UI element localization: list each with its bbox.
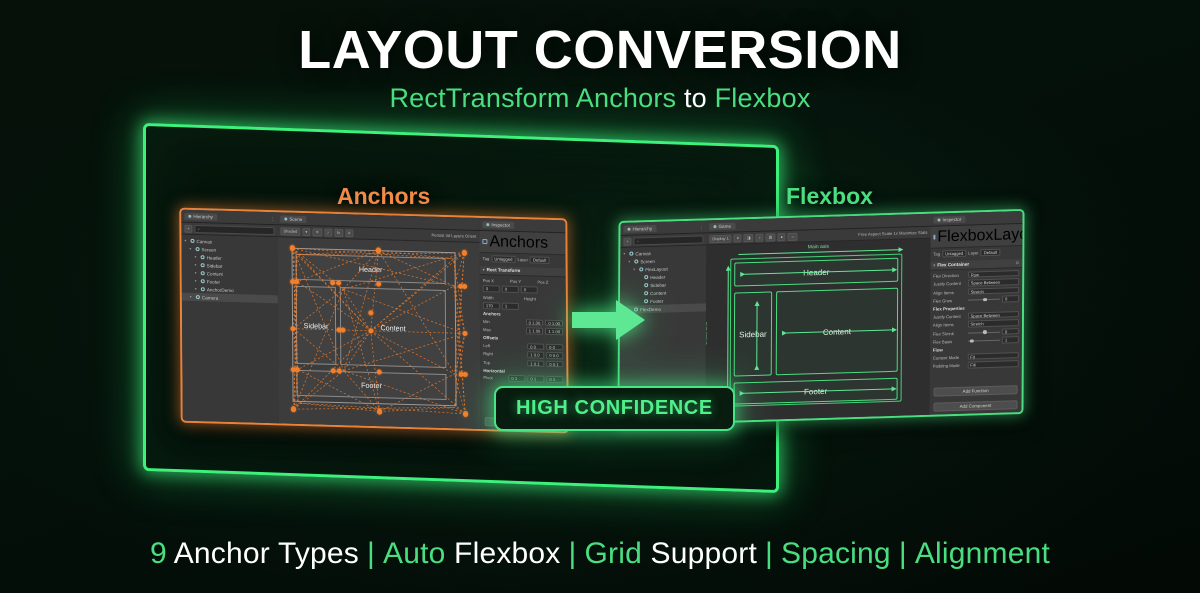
layer-value[interactable]: Default — [530, 257, 549, 264]
feature-text: Anchor Types — [167, 537, 359, 570]
hierarchy-item-label: Canvas — [196, 239, 212, 244]
toolbar-record-icon[interactable]: ● — [777, 233, 785, 241]
toolbar-dropdown-icon[interactable]: ▾ — [734, 234, 742, 242]
object-name-field[interactable]: FlexboxLayout — [937, 225, 1024, 246]
anchor-guide-lines — [277, 237, 480, 429]
tag-value[interactable]: Untagged — [491, 256, 515, 263]
hierarchy-item-label: Header — [207, 255, 222, 260]
disclosure-triangle-icon[interactable]: ▾ — [623, 252, 627, 256]
status-badge: HIGH CONFIDENCE — [494, 386, 735, 431]
expand-chevron-icon[interactable]: ▾ — [933, 263, 935, 268]
gameobject-icon — [201, 287, 205, 291]
tab-inspector[interactable]: Inspector — [933, 215, 965, 223]
hierarchy-item-label: AnchorDemo — [207, 287, 234, 293]
object-name-field[interactable]: Anchors — [489, 233, 562, 253]
feature-item: Spacing — [781, 537, 891, 570]
layer-value[interactable]: Default — [981, 249, 1000, 256]
feature-item: Grid Support — [585, 537, 758, 570]
layer-label: Layer — [968, 250, 979, 255]
toolbar-mute-icon[interactable]: ♪ — [756, 233, 764, 241]
tab-label: Hierarchy — [632, 226, 652, 232]
subtitle-connector: to — [676, 83, 714, 113]
row-y[interactable]: 0 0.1 — [546, 361, 563, 368]
property-label: Justify Content — [933, 313, 966, 319]
gameobject-icon — [644, 283, 648, 287]
toolbar-audio-icon[interactable]: ♪ — [324, 228, 332, 236]
hierarchy-menu-icon[interactable]: ⋮ — [699, 224, 703, 229]
tab-inspector[interactable]: Inspector — [482, 221, 514, 229]
inspector-cell: Height — [524, 296, 563, 302]
add-object-button[interactable]: + — [623, 237, 631, 245]
inspector-cell: Width — [483, 295, 522, 301]
tab-label: Inspector — [491, 222, 510, 228]
offset-value-row[interactable]: Top1 0.10 0.1 — [483, 359, 563, 368]
tab-hierarchy[interactable]: Hierarchy — [623, 224, 656, 232]
tab-game[interactable]: Game — [709, 222, 735, 230]
anchors-scene-panel[interactable]: Scene Shaded ▾ ☀ ♪ fx # Persist 3d Layer… — [277, 212, 480, 429]
add-function-button[interactable]: Add Function — [934, 385, 1018, 396]
flex-box-label: Sidebar — [739, 329, 767, 339]
hierarchy-item-label: Content — [650, 290, 666, 295]
property-dropdown[interactable]: Space Between — [967, 311, 1019, 319]
toolbar-scale-icon[interactable]: ⇔ — [788, 232, 798, 240]
hierarchy-item-label: Screen — [202, 247, 217, 252]
property-label: Justify Content — [933, 281, 966, 287]
property-label: Flex Direction — [933, 272, 966, 278]
row-x[interactable]: 1 1.00 — [526, 327, 544, 334]
hierarchy-item-label: Canvas — [635, 251, 651, 256]
row-value[interactable]: 0 1 — [527, 376, 544, 383]
add-object-button[interactable]: + — [184, 224, 192, 232]
flexbox-game-panel[interactable]: Game Display 1 ▾ ◨ ♪ ▥ ● ⇔ Free Aspect S… — [705, 214, 930, 422]
row-value[interactable]: 0 1 — [508, 375, 525, 382]
main-axis-label: Main axis — [808, 244, 829, 251]
gameobject-icon — [201, 263, 205, 267]
gameobject-icon — [201, 279, 205, 283]
feature-separator: | — [569, 537, 577, 570]
hierarchy-item-label: Sidebar — [650, 282, 666, 287]
hierarchy-search-input[interactable]: ⌕ — [634, 235, 704, 245]
search-icon: ⌕ — [637, 239, 639, 243]
inspector-cell: 1 — [502, 303, 519, 310]
hierarchy-item-label: Screen — [640, 258, 655, 263]
disclosure-triangle-icon[interactable]: ▾ — [633, 267, 637, 271]
inspector-row: 1701 — [483, 302, 563, 311]
anchors-hierarchy-list[interactable]: ▾Canvas▾Screen▾Header▾Sidebar▾Content▾Fo… — [181, 235, 278, 424]
flex-box-label: Header — [803, 267, 829, 277]
pivot-row[interactable]: Pivot0 10 10 1 — [483, 374, 563, 383]
inspector-cell: 0 — [502, 286, 519, 293]
hierarchy-item-label: Header — [650, 274, 665, 279]
tag-label: Tag — [933, 251, 940, 256]
row-key: Min — [483, 319, 524, 325]
inspector-object-header[interactable]: Anchors — [479, 231, 565, 255]
property-dropdown[interactable]: Fit — [967, 352, 1019, 360]
inspector-icon — [937, 218, 940, 221]
tab-hierarchy[interactable]: Hierarchy — [184, 212, 217, 220]
feature-accent: Spacing — [781, 537, 891, 570]
feature-accent: Grid — [585, 537, 642, 570]
gameobject-icon — [196, 247, 200, 251]
hierarchy-item-camera[interactable]: ▾Camera — [182, 293, 278, 304]
feature-text: Flexbox — [446, 537, 561, 570]
flexbox-inspector-body[interactable]: Flex DirectionRowJustify ContentSpace Be… — [930, 268, 1023, 385]
feature-accent: 9 — [150, 537, 167, 570]
tag-value[interactable]: Untagged — [942, 250, 966, 257]
cube-icon — [482, 239, 487, 244]
tab-scene[interactable]: Scene — [280, 215, 306, 223]
component-name: Flex Container — [937, 262, 969, 268]
scene-icon — [284, 217, 287, 220]
feature-item: Auto Flexbox — [383, 537, 561, 570]
gameobject-icon — [644, 275, 648, 279]
tag-label: Tag — [483, 256, 490, 261]
game-toolbar-right: Free Aspect Scale 1x Maximize Stats — [858, 230, 927, 237]
game-icon — [713, 225, 716, 228]
feature-separator: | — [367, 537, 375, 570]
gameobject-icon — [201, 255, 205, 259]
property-value[interactable]: 0 — [1002, 295, 1019, 302]
conversion-arrow — [572, 296, 646, 344]
row-key: Top — [483, 360, 525, 366]
flex-box-sidebar[interactable]: Sidebar — [734, 291, 772, 376]
property-label: Content Mode — [933, 354, 966, 360]
anchors-hierarchy-panel[interactable]: Hierarchy ⋮ + ⌕ ▾Canvas▾Screen▾Header▾Si… — [181, 210, 278, 424]
gameobject-icon — [201, 271, 205, 275]
toolbar-fx-icon[interactable]: fx — [334, 228, 343, 236]
disclosure-triangle-icon[interactable]: ▾ — [195, 279, 199, 283]
gameobject-icon — [634, 259, 638, 263]
anchors-panel-label: Anchors — [337, 183, 430, 210]
row-key: Right — [483, 351, 525, 357]
disclosure-triangle-icon[interactable]: ▾ — [195, 271, 199, 275]
gameobject-icon — [644, 291, 648, 295]
expand-chevron-icon[interactable]: ▾ — [483, 267, 485, 272]
row-y[interactable]: 0 1.00 — [545, 320, 563, 327]
feature-item: Alignment — [915, 537, 1050, 570]
hierarchy-item-label: Footer — [207, 279, 220, 284]
toolbar-gizmos-icon[interactable]: ◨ — [744, 233, 754, 241]
toolbar-stats-icon[interactable]: ▥ — [766, 233, 776, 241]
add-component-button[interactable]: Add Component — [933, 400, 1017, 411]
row-x[interactable]: 0 1.00 — [526, 319, 544, 326]
property-label: Flex Grow — [933, 298, 966, 304]
property-slider[interactable] — [967, 337, 1000, 344]
inspector-cell: Pos Z — [537, 279, 562, 285]
page-title: LAYOUT CONVERSION — [0, 22, 1200, 79]
hierarchy-menu-icon[interactable]: ⋮ — [270, 216, 274, 221]
hierarchy-icon — [627, 227, 630, 230]
row-y[interactable]: 0 0 — [546, 344, 563, 351]
inspector-cell: Pos X — [483, 278, 508, 284]
gameobject-icon — [190, 239, 194, 243]
tab-label: Scene — [289, 216, 302, 221]
search-icon: ⌕ — [198, 227, 200, 231]
flex-property-row[interactable]: Flex Grow0 — [933, 295, 1019, 305]
flex-box-label: Content — [823, 327, 851, 337]
property-dropdown[interactable]: Stretch — [968, 287, 1020, 295]
anchor-value-row[interactable]: Max1 1.001 1.00 — [483, 326, 563, 335]
inspector-cell: 170 — [483, 302, 500, 309]
component-name: Rect Transform — [487, 267, 521, 273]
flexbox-panel-label: Flexbox — [786, 183, 873, 210]
row-key: Left — [483, 343, 525, 349]
hierarchy-item-label: Footer — [650, 298, 663, 303]
gameobject-icon — [629, 252, 633, 256]
page-subtitle: RectTransform Anchors to Flexbox — [0, 83, 1200, 114]
disclosure-triangle-icon[interactable]: ▾ — [184, 239, 188, 243]
disclosure-triangle-icon[interactable]: ▾ — [628, 260, 632, 264]
inspector-object-header[interactable]: FlexboxLayout — [930, 224, 1022, 249]
inspector-cell: 0 — [521, 286, 538, 293]
property-dropdown[interactable]: Stretch — [967, 319, 1019, 327]
hierarchy-item-label: Content — [207, 271, 223, 276]
flex-box-header[interactable]: Header — [734, 258, 898, 287]
flex-box-label: Footer — [804, 386, 827, 396]
flexbox-diagram[interactable]: Main axisCross axisHeaderSidebarContentF… — [705, 239, 930, 422]
component-settings-icon[interactable]: ⚙ — [1016, 260, 1020, 265]
row-value[interactable]: 0 1 — [546, 376, 563, 383]
subtitle-flexbox: Flexbox — [715, 83, 811, 113]
row-key: Pivot — [483, 375, 506, 381]
property-label: Padding Mode — [933, 363, 966, 369]
row-x[interactable]: 1 0.0 — [527, 352, 544, 359]
hierarchy-item-label: Sidebar — [207, 263, 223, 268]
layer-label: Layer — [517, 257, 528, 262]
hierarchy-item-label: Camera — [202, 295, 218, 300]
flex-property-row[interactable]: Padding ModeFill — [933, 360, 1019, 370]
row-key: Max — [483, 327, 524, 333]
row-y[interactable]: 0 0.0 — [546, 352, 563, 359]
disclosure-triangle-icon[interactable]: ▾ — [190, 247, 194, 251]
feature-separator: | — [765, 537, 773, 570]
hierarchy-item-label: FlexLayout — [645, 266, 668, 272]
property-label: Flex Shrink — [933, 330, 966, 336]
tab-label: Hierarchy — [193, 213, 213, 219]
property-dropdown[interactable]: Space Between — [968, 278, 1020, 286]
disclosure-triangle-icon[interactable]: ▾ — [190, 295, 194, 299]
tab-label: Inspector — [942, 216, 961, 222]
hierarchy-icon — [188, 214, 191, 217]
feature-separator: | — [899, 537, 907, 570]
property-dropdown[interactable]: Row — [968, 270, 1020, 278]
inspector-cell: 0 — [483, 285, 500, 292]
display-dropdown[interactable]: Display 1 — [709, 234, 731, 243]
tag-layer-row[interactable]: Tag Untagged Layer Default — [480, 255, 566, 264]
property-slider[interactable] — [968, 296, 1001, 303]
feature-text: Support — [642, 537, 757, 570]
property-value[interactable]: 1 — [1002, 336, 1019, 343]
inspector-cell: Pos Y — [510, 278, 535, 284]
inspector-icon — [486, 223, 489, 226]
property-label: Flex Basis — [933, 339, 966, 345]
row-x[interactable]: 1 0.1 — [527, 360, 544, 367]
toolbar-2d-button[interactable]: ▾ — [302, 227, 310, 235]
property-dropdown[interactable]: Fill — [967, 360, 1019, 368]
anchors-diagram[interactable]: HeaderSidebarContentFooter — [277, 237, 480, 429]
cube-icon — [933, 235, 935, 240]
property-slider[interactable] — [967, 329, 1000, 336]
disclosure-triangle-icon[interactable]: ▾ — [195, 263, 199, 267]
feature-accent: Alignment — [915, 537, 1050, 570]
header: LAYOUT CONVERSION RectTransform Anchors … — [0, 22, 1200, 114]
flexbox-inspector-panel[interactable]: Inspector FlexboxLayout Tag Untagged Lay… — [929, 211, 1022, 415]
toolbar-lighting-icon[interactable]: ☀ — [312, 228, 322, 236]
disclosure-triangle-icon[interactable]: ▾ — [195, 287, 199, 291]
property-label: Align Items — [933, 289, 966, 295]
hierarchy-search-input[interactable]: ⌕ — [195, 224, 275, 234]
toolbar-grid-icon[interactable]: # — [345, 229, 353, 237]
cross-axis-label: Cross axis — [705, 322, 708, 346]
tag-layer-row[interactable]: Tag Untagged Layer Default — [930, 248, 1022, 258]
property-value[interactable]: 0 — [1002, 328, 1019, 335]
scene-toolbar-right: Persist 3d Layers Orient — [431, 233, 476, 239]
gameobject-icon — [196, 295, 200, 299]
flex-box-content[interactable]: Content — [776, 288, 898, 376]
disclosure-triangle-icon[interactable]: ▾ — [195, 255, 199, 259]
property-label: Align Items — [933, 322, 966, 328]
row-x[interactable]: 0 0 — [527, 343, 544, 350]
feature-item: 9 Anchor Types — [150, 537, 359, 570]
subtitle-anchors: RectTransform Anchors — [389, 83, 676, 113]
feature-list: 9 Anchor Types|Auto Flexbox|Grid Support… — [0, 537, 1200, 571]
shading-mode-dropdown[interactable]: Shaded — [280, 227, 300, 236]
row-y[interactable]: 1 1.00 — [545, 328, 563, 335]
feature-accent: Auto — [383, 537, 446, 570]
tab-label: Game — [718, 223, 731, 228]
gameobject-icon — [639, 267, 643, 271]
flex-property-row[interactable]: Flex Basis1 — [933, 336, 1019, 346]
